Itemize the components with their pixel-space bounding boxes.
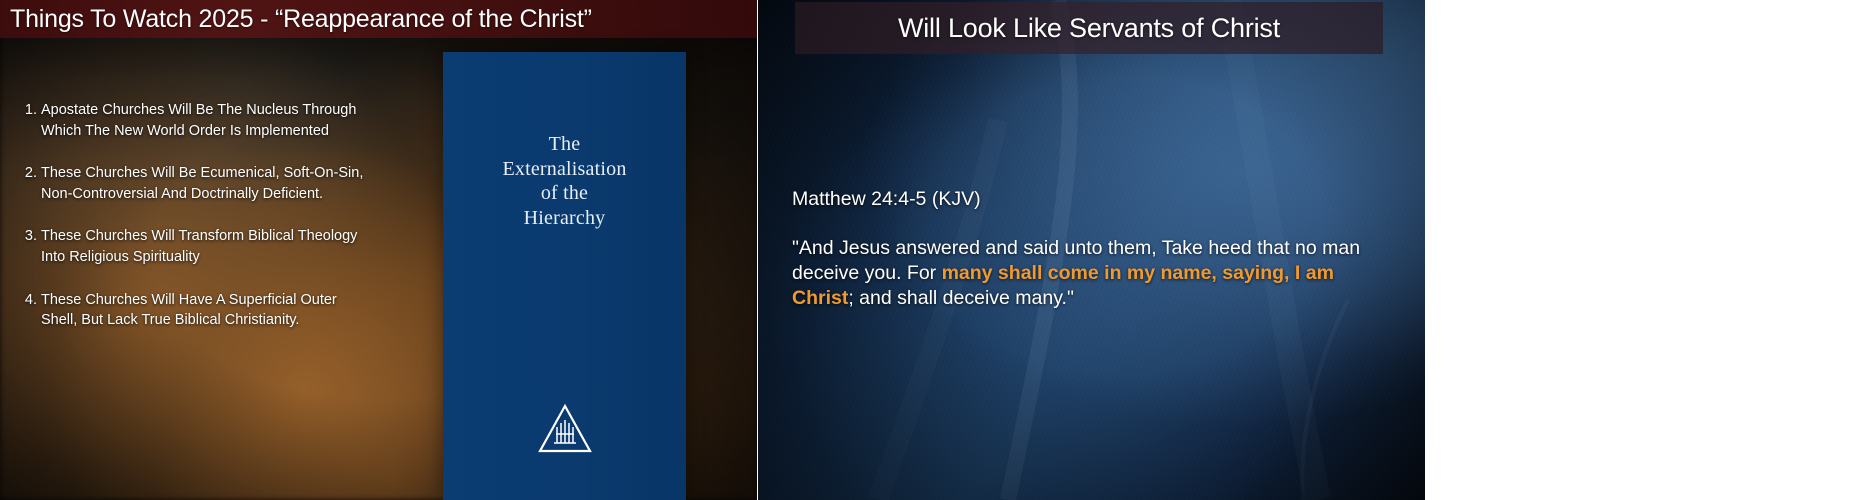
right-slide-title: Will Look Like Servants of Christ xyxy=(898,15,1280,42)
left-slide-title: Things To Watch 2025 - “Reappearance of … xyxy=(0,7,592,32)
book-title-line: Externalisation xyxy=(443,157,686,182)
book-title-line: Hierarchy xyxy=(443,206,686,231)
list-item-label: Apostate Churches Will Be The Nucleus Th… xyxy=(41,100,375,141)
list-item: 2. These Churches Will Be Ecumenical, So… xyxy=(20,163,375,204)
list-item: 3. These Churches Will Transform Biblica… xyxy=(20,226,375,267)
right-slide-panel: Will Look Like Servants of Christ Matthe… xyxy=(758,0,1425,500)
scripture-reference: Matthew 24:4-5 (KJV) xyxy=(792,190,981,210)
watch-list: 1. Apostate Churches Will Be The Nucleus… xyxy=(20,100,375,353)
list-item-label: These Churches Will Transform Biblical T… xyxy=(41,226,375,267)
lucis-trust-triangle-icon xyxy=(443,403,686,455)
left-slide-title-bar: Things To Watch 2025 - “Reappearance of … xyxy=(0,0,757,38)
list-item: 4. These Churches Will Have A Superficia… xyxy=(20,290,375,331)
right-slide-title-bar: Will Look Like Servants of Christ xyxy=(795,2,1383,54)
book-title-line: The xyxy=(443,132,686,157)
left-slide-panel: Things To Watch 2025 - “Reappearance of … xyxy=(0,0,757,500)
scripture-text: "And Jesus answered and said unto them, … xyxy=(792,236,1392,311)
book-title-line: of the xyxy=(443,181,686,206)
book-cover-image: The Externalisation of the Hierarchy xyxy=(443,52,686,500)
list-item-number: 3. xyxy=(20,226,41,267)
list-item-label: These Churches Will Be Ecumenical, Soft-… xyxy=(41,163,375,204)
scripture-part-two: ; and shall deceive many." xyxy=(848,287,1074,309)
list-item: 1. Apostate Churches Will Be The Nucleus… xyxy=(20,100,375,141)
list-item-number: 4. xyxy=(20,290,41,331)
list-item-number: 1. xyxy=(20,100,41,141)
screenshot-stage: Things To Watch 2025 - “Reappearance of … xyxy=(0,0,1850,500)
book-title: The Externalisation of the Hierarchy xyxy=(443,132,686,230)
list-item-number: 2. xyxy=(20,163,41,204)
list-item-label: These Churches Will Have A Superficial O… xyxy=(41,290,375,331)
